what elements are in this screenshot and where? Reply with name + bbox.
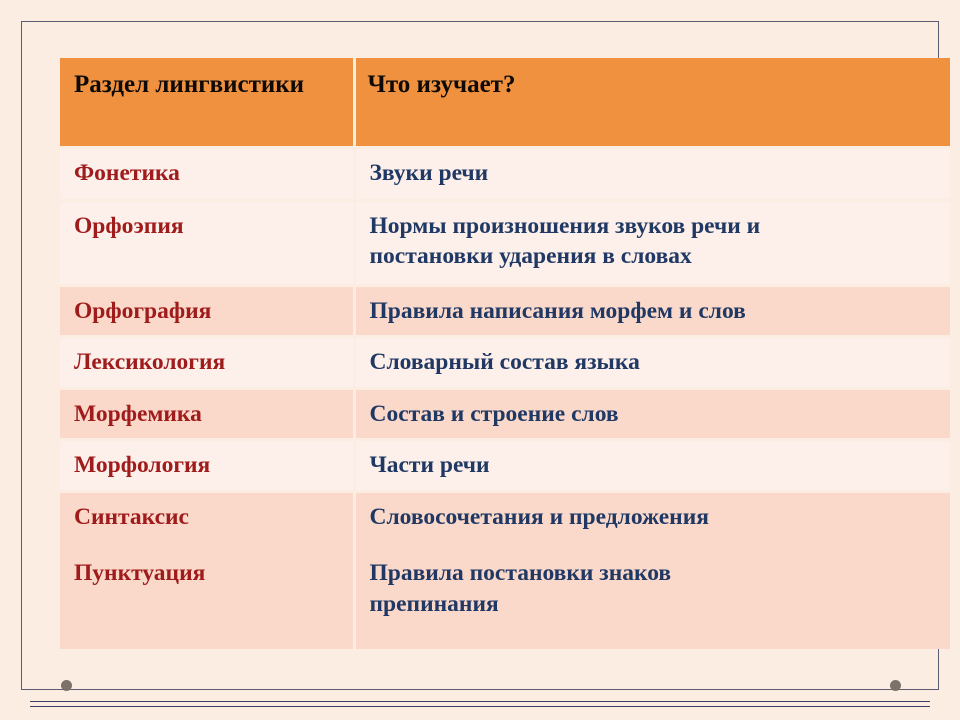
branch-description-line: Звуки речи <box>370 158 939 189</box>
term-spacer <box>74 532 341 558</box>
decorative-dot-left <box>61 680 72 691</box>
table-row: Лексикология Словарный состав языка <box>60 337 950 389</box>
table-header-row: Раздел лингвистики Что изучает? <box>60 58 950 147</box>
branch-description: Части речи <box>354 440 950 492</box>
branch-term: Лексикология <box>60 337 354 389</box>
branch-description-line: Состав и строение слов <box>370 399 939 430</box>
branch-term-text: Синтаксис <box>74 502 341 533</box>
branch-term: Морфемика <box>60 388 354 440</box>
branch-description-line: Словосочетания и предложения <box>370 502 939 533</box>
branch-term-text: Лексикология <box>74 347 341 378</box>
branch-description: Нормы произношения звуков речи и постано… <box>354 200 950 285</box>
branch-description: Словосочетания и предложения Правила пос… <box>354 491 950 649</box>
branch-term-text: Орфоэпия <box>74 211 341 242</box>
table-row: Морфология Части речи <box>60 440 950 492</box>
column-header-branch-line1: Раздел <box>74 71 149 98</box>
slide-frame: Раздел лингвистики Что изучает? Фонетика… <box>21 21 939 690</box>
table-row: Морфемика Состав и строение слов <box>60 388 950 440</box>
decorative-bottom-rule <box>30 701 930 707</box>
table-row: Орфография Правила написания морфем и сл… <box>60 285 950 337</box>
linguistics-branches-table: Раздел лингвистики Что изучает? Фонетика… <box>60 58 950 649</box>
column-header-studies-text: Что изучает? <box>368 71 516 98</box>
decorative-dot-right <box>890 680 901 691</box>
branch-description-line: Словарный состав языка <box>370 347 939 378</box>
branch-description-line: Части речи <box>370 450 939 481</box>
column-header-studies: Что изучает? <box>354 58 950 147</box>
branch-description-line: Правила постановки знаков <box>370 558 939 589</box>
branch-description: Звуки речи <box>354 147 950 200</box>
table-row: Орфоэпия Нормы произношения звуков речи … <box>60 200 950 285</box>
branch-term-text: Морфология <box>74 450 341 481</box>
branch-term: Орфоэпия <box>60 200 354 285</box>
branch-description: Состав и строение слов <box>354 388 950 440</box>
branch-description: Словарный состав языка <box>354 337 950 389</box>
column-header-branch: Раздел лингвистики <box>60 58 354 147</box>
description-spacer <box>370 532 939 558</box>
branch-term-text: Морфемика <box>74 399 341 430</box>
branch-term: Морфология <box>60 440 354 492</box>
branch-term-text: Орфография <box>74 296 341 327</box>
branch-description-line: препинания <box>370 589 939 620</box>
branch-description-line: Нормы произношения звуков речи и <box>370 211 939 242</box>
table-row: Синтаксис Пунктуация Словосочетания и пр… <box>60 491 950 649</box>
branch-description-line: постановки ударения в словах <box>370 241 939 272</box>
branch-term: Орфография <box>60 285 354 337</box>
column-header-branch-line2: лингвистики <box>155 71 304 98</box>
branch-description: Правила написания морфем и слов <box>354 285 950 337</box>
branch-description-line: Правила написания морфем и слов <box>370 296 939 327</box>
branch-term-text: Пунктуация <box>74 558 341 589</box>
table-row: Фонетика Звуки речи <box>60 147 950 200</box>
branch-term: Синтаксис Пунктуация <box>60 491 354 649</box>
branch-term: Фонетика <box>60 147 354 200</box>
branch-term-text: Фонетика <box>74 158 341 189</box>
